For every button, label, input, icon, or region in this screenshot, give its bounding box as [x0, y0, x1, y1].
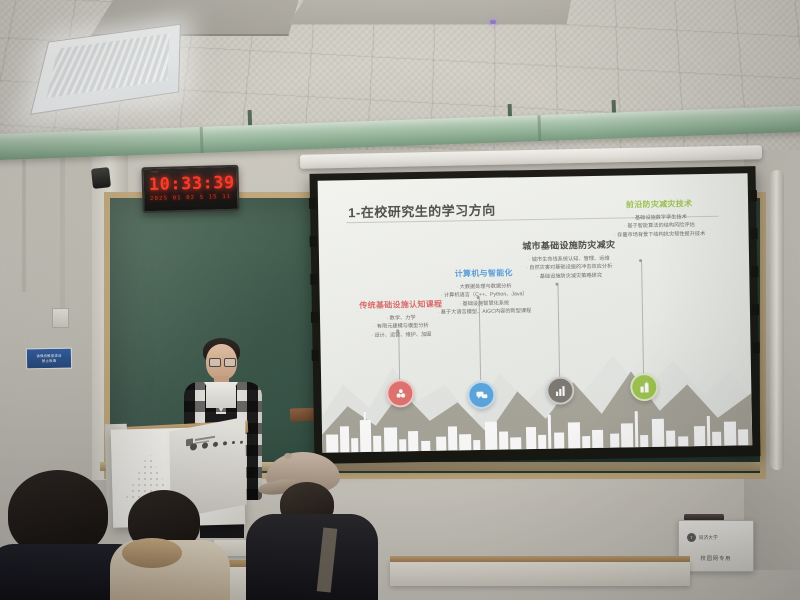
student-desk-edge	[390, 556, 690, 562]
audience-person-cap	[252, 452, 402, 600]
bullet-item: 基于大语言模型、AIGC内容的新型课程	[402, 307, 567, 318]
digital-wall-clock: TIME 10:33:39 2025 01 02 S 15 11	[141, 165, 239, 214]
wall-socket[interactable]	[52, 308, 69, 328]
slide-title: 1-在校研究生的学习方向	[348, 200, 496, 222]
audience-shoulders	[246, 514, 378, 600]
wall-conduit	[60, 150, 65, 320]
city-skyline-illustration	[322, 403, 753, 452]
bullet-item: 设计、运营、维护、加固	[326, 330, 476, 341]
column-bullets: 城市生命线系统认知、管理、运维 自然灾害对基础设施的冲击效应分析 基础设施防灾减…	[489, 254, 649, 282]
glasses-icon	[209, 358, 234, 365]
cap-button	[284, 453, 292, 459]
ceiling-vent-box	[91, 0, 302, 36]
audience-person-middle	[116, 490, 246, 600]
presentation-slide: 1-在校研究生的学习方向	[318, 173, 753, 452]
classroom-photo: 请保持教室清洁 禁止吸烟 TIME 10:33:39 2025 01 02 S …	[0, 0, 800, 600]
projector-status-led	[490, 20, 496, 24]
slide-column-urban-disaster: 城市基础设施防灾减灾 城市生命线系统认知、管理、运维 自然灾害对基础设施的冲击效…	[489, 237, 650, 282]
university-logo-text: 同济大学	[699, 535, 718, 541]
audience-fur-collar	[122, 538, 182, 568]
university-logo: T 同济大学	[687, 533, 718, 542]
bullet-item: 基础设施防灾减灾策略研究	[489, 271, 649, 282]
university-logo-mark: T	[687, 533, 696, 542]
wall-sign-line2: 禁止吸烟	[42, 358, 56, 362]
vertical-pipe	[770, 170, 784, 470]
clock-date-display: 2025 01 02 S 15 11	[148, 194, 233, 202]
slide-column-frontier-tech: 前沿防灾减灾技术 基础设施数字孪生技术 基于智能算法的结构风险评估 存量市场背景…	[576, 197, 743, 240]
clock-time-display: 10:33:39	[149, 173, 232, 195]
projector-screen: 1-在校研究生的学习方向	[310, 166, 761, 464]
student-desk	[390, 560, 690, 586]
bullet-item: 存量市场背景下结构抗灾韧性提升技术	[577, 229, 743, 240]
network-box-label: 校园网专用	[679, 555, 753, 562]
clock-brand-label: TIME	[149, 170, 158, 174]
column-heading: 前沿防灾减灾技术	[576, 197, 742, 211]
wall-notice-sign: 请保持教室清洁 禁止吸烟	[26, 348, 72, 370]
wall-speaker-icon	[91, 167, 111, 189]
presenter-shirt	[206, 382, 236, 408]
ceiling-vent-box-2	[288, 0, 573, 25]
column-bullets: 大数据处理与数据分析 计算机语言（C++、Python、Java） 基础设施智慧…	[401, 281, 567, 317]
wall-conduit	[22, 152, 26, 292]
column-bullets: 基础设施数字孪生技术 基于智能算法的结构风险评估 存量市场背景下结构抗灾韧性提升…	[576, 212, 742, 240]
